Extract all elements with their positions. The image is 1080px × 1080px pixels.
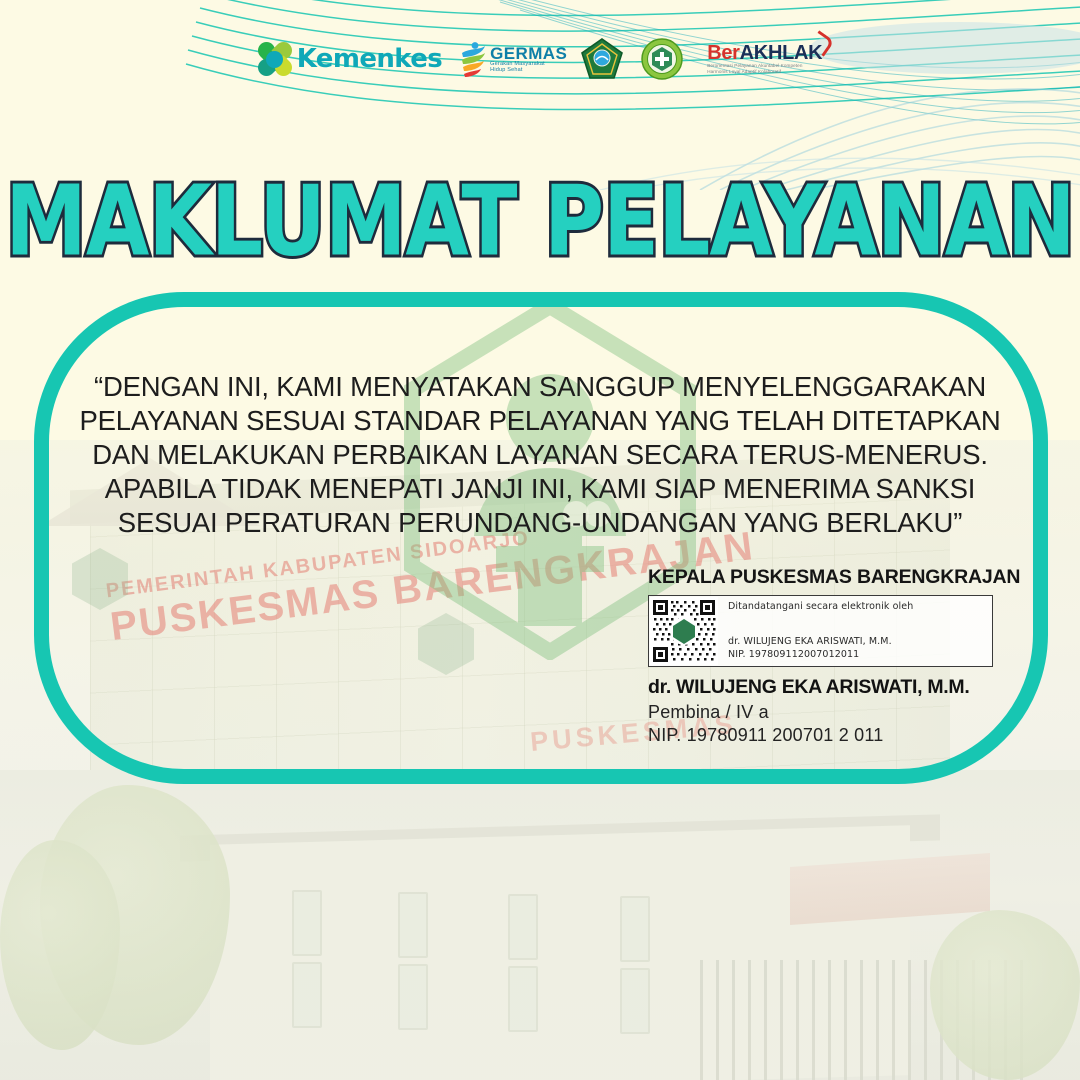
- wave-svg: [0, 0, 1080, 190]
- germas-tagline-2: Hidup Sehat: [490, 68, 567, 74]
- kemenkes-wordmark: Kemenkes: [297, 44, 442, 74]
- signature-block: KEPALA PUSKESMAS BARENGKRAJAN: [648, 566, 1008, 746]
- header-logo-row: Kemenkes GERMAS Gerakan Masyarakat Hidup…: [0, 30, 1080, 88]
- decorative-wave-pattern: [0, 0, 1080, 190]
- berakhlak-tagline-2: Harmonis Loyal Adaptif Kolaboratif: [707, 70, 822, 75]
- declaration-line: DAN MELAKUKAN PERBAIKAN LAYANAN SECARA T…: [60, 438, 1020, 472]
- declaration-line: APABILA TIDAK MENEPATI JANJI INI, KAMI S…: [60, 472, 1020, 506]
- berakhlak-wordmark: BerAKHLAK Berorientasi Pelayanan Akuntab…: [707, 43, 822, 74]
- germas-figure-icon: [460, 41, 486, 77]
- kemenkes-flower-icon: [258, 42, 292, 76]
- esign-line2: dr. WILUJENG EKA ARISWATI, M.M.: [728, 636, 892, 647]
- maklumat-pelayanan-poster: PEMERINTAH KABUPATEN SIDOARJO PUSKESMAS …: [0, 0, 1080, 1080]
- germas-title: GERMAS: [490, 45, 567, 62]
- declaration-text: “DENGAN INI, KAMI MENYATAKAN SANGGUP MEN…: [60, 370, 1020, 540]
- signatory-rank: Pembina / IV a: [648, 702, 1008, 723]
- esign-text: Ditandatangani secara elektronik oleh dr…: [719, 596, 992, 666]
- esign-line1: Ditandatangani secara elektronik oleh: [728, 601, 992, 612]
- puskesmas-seal-svg: [641, 38, 683, 80]
- declaration-line: PELAYANAN SESUAI STANDAR PELAYANAN YANG …: [60, 404, 1020, 438]
- signatory-nip: NIP. 19780911 200701 2 011: [648, 725, 1008, 746]
- signature-position-title: KEPALA PUSKESMAS BARENGKRAJAN: [648, 566, 1008, 589]
- electronic-signature-box: Ditandatangani secara elektronik oleh dr…: [648, 595, 993, 667]
- sidoarjo-seal-svg: [581, 38, 623, 80]
- germas-svg: [460, 41, 486, 77]
- signatory-name: dr. WILUJENG EKA ARISWATI, M.M.: [648, 676, 1008, 699]
- qr-code-icon: [650, 597, 718, 665]
- declaration-line: “DENGAN INI, KAMI MENYATAKAN SANGGUP MEN…: [60, 370, 1020, 404]
- puskesmas-seal-icon: [641, 38, 683, 80]
- declaration-line: SESUAI PERATURAN PERUNDANG-UNDANGAN YANG…: [60, 506, 1020, 540]
- logo-berakhlak: BerAKHLAK Berorientasi Pelayanan Akuntab…: [703, 43, 822, 74]
- logo-germas: GERMAS Gerakan Masyarakat Hidup Sehat: [460, 41, 567, 77]
- sidoarjo-seal-icon: [581, 38, 623, 80]
- esign-line3: NIP. 197809112007012011: [728, 649, 859, 660]
- page-title: MAKLUMAT PELAYANAN: [0, 166, 1080, 278]
- berakhlak-prefix: Ber: [707, 42, 739, 64]
- logo-kemenkes: Kemenkes: [258, 42, 442, 76]
- qr-code-svg: [650, 597, 718, 665]
- germas-wordmark: GERMAS Gerakan Masyarakat Hidup Sehat: [490, 45, 567, 73]
